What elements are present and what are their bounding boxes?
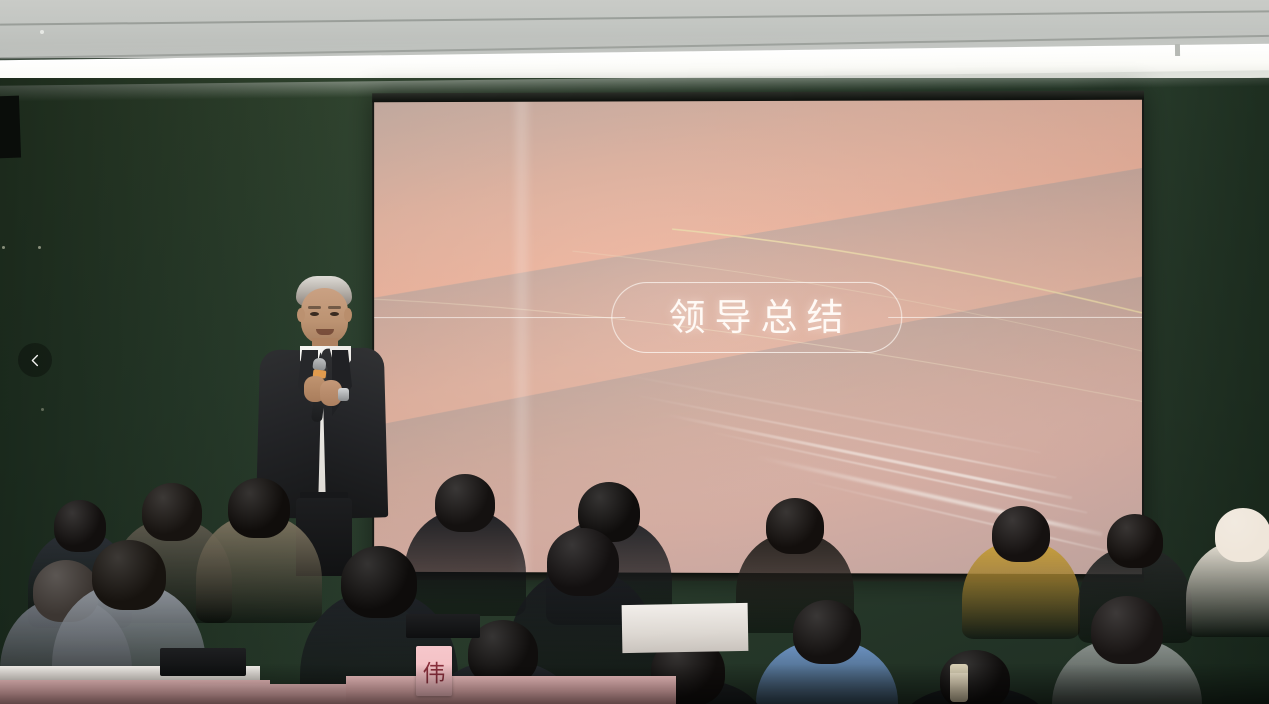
slide-title-rule-right — [888, 316, 1142, 317]
presenter — [252, 276, 388, 576]
slide-title: 领导总结 — [611, 281, 902, 352]
presenter-head — [301, 288, 348, 344]
slide-content: 领导总结 — [374, 100, 1142, 575]
presenter-ear — [297, 308, 305, 322]
projection-screen: 领导总结 — [372, 91, 1144, 583]
light-mount — [1175, 44, 1180, 56]
wall-highlight — [2, 246, 5, 249]
wall-highlight — [38, 246, 41, 249]
slide-title-rule-left — [374, 317, 625, 318]
presenter-eye — [310, 312, 319, 316]
presentation-photo-viewer: 领导总结 伟 — [0, 0, 1269, 704]
ceiling-fixture-dot — [40, 30, 44, 34]
foreground-shadow — [0, 664, 1269, 704]
chevron-left-icon — [28, 353, 43, 368]
prev-button[interactable] — [18, 343, 52, 377]
slide-title-group: 领导总结 — [374, 274, 1142, 360]
wall-highlight — [41, 408, 44, 411]
laptop — [406, 614, 480, 638]
ceiling-seam — [0, 10, 1269, 25]
presenter-brow — [328, 306, 341, 309]
presenter-eye — [330, 312, 339, 316]
presenter-ear — [344, 308, 352, 322]
wall-speaker-box — [0, 96, 21, 159]
presenter-trousers — [296, 498, 352, 576]
presenter-brow — [308, 306, 321, 309]
presenter-watch — [338, 388, 349, 401]
table-surface — [622, 603, 749, 653]
